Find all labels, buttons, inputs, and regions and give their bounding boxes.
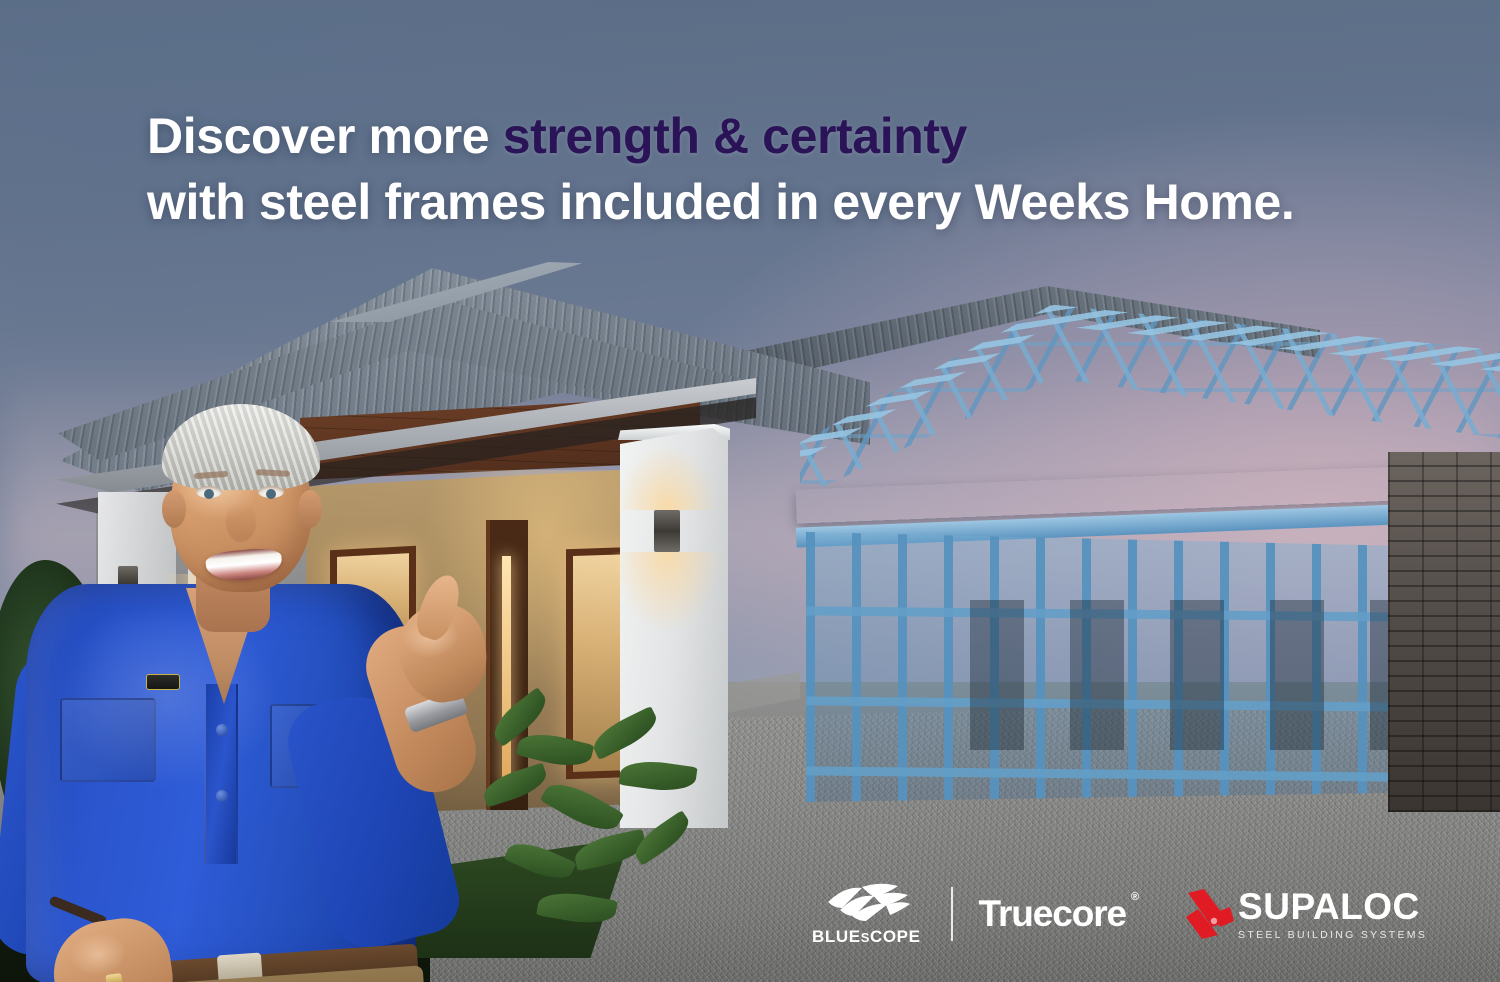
supaloc-text-block: SUPALOC STEEL BUILDING SYSTEMS bbox=[1238, 888, 1427, 941]
plant-leaf bbox=[536, 887, 618, 928]
headline-line-2: with steel frames included in every Week… bbox=[147, 170, 1347, 236]
frame-openings bbox=[970, 600, 1390, 750]
headline-line-1: Discover more strength & certainty bbox=[147, 104, 1347, 170]
headline-line-1-white: Discover more bbox=[147, 108, 503, 164]
shirt-placket bbox=[204, 684, 238, 864]
foreground-plants bbox=[478, 676, 718, 976]
plant-leaf bbox=[588, 706, 662, 760]
shirt-pocket-left bbox=[60, 698, 156, 782]
pupil bbox=[266, 489, 276, 499]
shirt-brand-badge bbox=[146, 674, 180, 690]
eye-right bbox=[258, 486, 284, 498]
shirt-button bbox=[216, 790, 228, 802]
hair bbox=[162, 404, 320, 490]
brick-wall bbox=[1388, 452, 1500, 812]
truecore-registered-mark: ® bbox=[1131, 891, 1139, 903]
bluescope-word-s: S bbox=[861, 930, 870, 945]
shirt-button bbox=[216, 724, 228, 736]
wall-light-uplight-glow bbox=[592, 400, 742, 510]
plant-leaf bbox=[618, 757, 697, 795]
bluescope-word-blue: BLUE bbox=[812, 927, 861, 946]
presenter-figure bbox=[8, 398, 478, 982]
plant-leaf bbox=[504, 835, 577, 886]
supaloc-red-chevron-mark bbox=[1184, 887, 1236, 941]
logo-divider bbox=[951, 887, 953, 941]
finger-ring bbox=[105, 973, 123, 982]
bluescope-logo: BLUESCOPE bbox=[812, 882, 921, 947]
pupil bbox=[204, 489, 214, 499]
marketing-banner: Discover more strength & certainty with … bbox=[0, 0, 1500, 982]
supaloc-tagline: STEEL BUILDING SYSTEMS bbox=[1238, 929, 1427, 941]
bluescope-wordmark: BLUESCOPE bbox=[812, 927, 921, 947]
ear-right bbox=[298, 490, 322, 528]
nose bbox=[226, 502, 256, 542]
plant-leaf bbox=[516, 727, 595, 772]
truecore-wordmark: Truecore bbox=[979, 893, 1127, 934]
ear-left bbox=[162, 490, 186, 528]
bluescope-word-cope: COPE bbox=[870, 927, 921, 946]
eye-left bbox=[196, 486, 222, 498]
headline: Discover more strength & certainty with … bbox=[147, 104, 1347, 235]
bluescope-ribbon-mark bbox=[822, 882, 910, 922]
partner-logo-bar: BLUESCOPE Truecore ® SUPALOC STEEL BUILD… bbox=[812, 878, 1427, 950]
supaloc-logo: SUPALOC STEEL BUILDING SYSTEMS bbox=[1184, 887, 1427, 941]
plant-leaf bbox=[480, 762, 551, 807]
supaloc-wordmark: SUPALOC bbox=[1238, 888, 1427, 925]
wall-light-main bbox=[654, 510, 680, 552]
headline-line-1-accent: strength & certainty bbox=[503, 108, 967, 164]
wall-light-downlight-glow bbox=[592, 552, 742, 682]
truecore-logo: Truecore ® bbox=[979, 893, 1127, 935]
plant-leaf bbox=[540, 774, 624, 840]
